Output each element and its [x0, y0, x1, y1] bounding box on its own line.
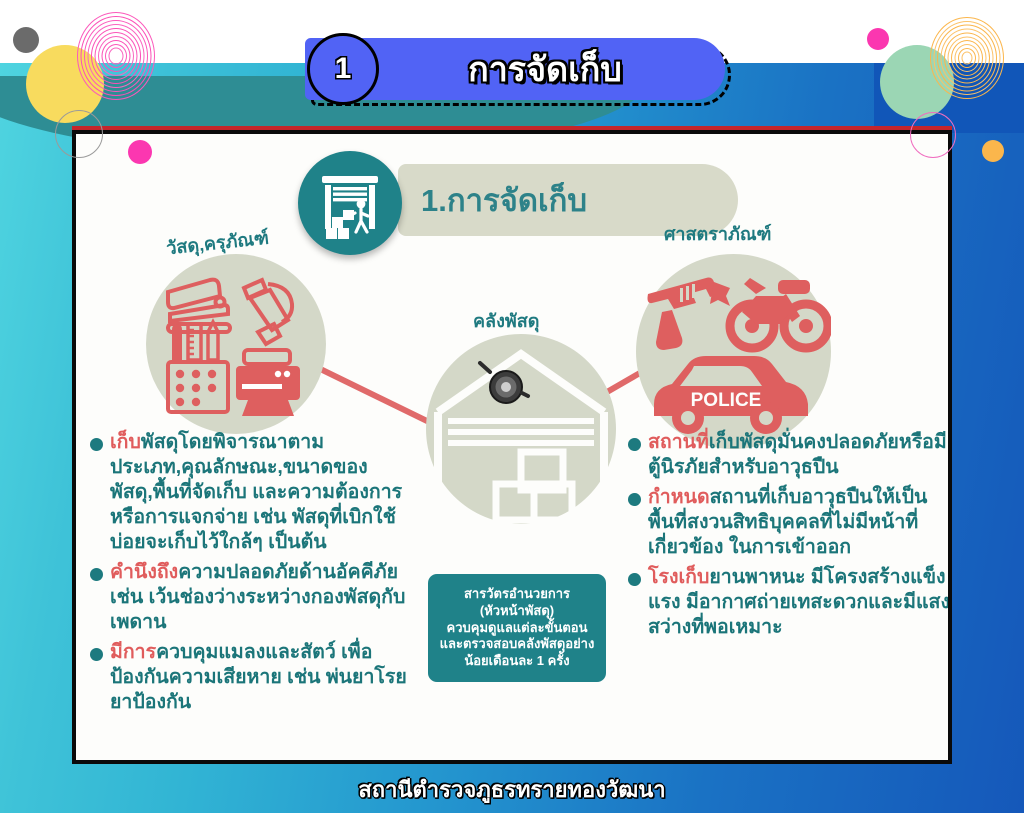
deco-pink-dot-top-right [867, 28, 889, 50]
deco-pink-spiral-top-left [77, 12, 155, 100]
deco-pink-dot-top-left [128, 140, 152, 164]
deco-pink-ring-top-right [910, 112, 956, 158]
bullet-highlight: โรงเก็บ [648, 566, 709, 588]
footer-organization-name: สถานีตำรวจภูธรทรายทองวัฒนา [0, 772, 1024, 807]
deco-orange-spiral-top-right [930, 17, 1004, 99]
binder-clip-icon [244, 280, 292, 344]
bullet-body: กำหนดสถานที่เก็บอาวุธปืนให้เป็นพื้นที่สง… [648, 485, 952, 560]
list-item: สถานที่เก็บพัสดุมั่นคงปลอดภัยหรือมีตู้นิ… [628, 430, 952, 480]
note-line: และตรวจสอบคลังพัสดุอย่าง [440, 636, 595, 653]
motorcycle-icon [730, 278, 828, 348]
warehouse-worker-icon [298, 151, 402, 255]
bullet-body: มีการควบคุมแมลงและสัตว์ เพื่อป้องกันความ… [110, 640, 420, 715]
list-item: กำหนดสถานที่เก็บอาวุธปืนให้เป็นพื้นที่สง… [628, 485, 952, 560]
bullet-highlight: คำนึงถึง [110, 561, 178, 583]
revolver-icon [648, 278, 731, 351]
page-title: การจัดเก็บ [395, 38, 695, 100]
step-number-badge: 1 [307, 33, 379, 105]
bullet-body: โรงเก็บยานพาหนะ มีโครงสร้างแข็งแรง มีอาก… [648, 565, 952, 640]
bullet-dot [90, 438, 103, 451]
printer-icon [236, 350, 300, 416]
list-item: โรงเก็บยานพาหนะ มีโครงสร้างแข็งแรง มีอาก… [628, 565, 952, 640]
deco-orange-dot-top-right [982, 140, 1004, 162]
list-item: คำนึงถึงความปลอดภัยด้านอัคคีภัย เช่น เว้… [90, 560, 420, 635]
note-line: ควบคุมดูแลแต่ละขั้นตอน [447, 620, 588, 637]
bullet-dot [90, 648, 103, 661]
bullet-dot [628, 438, 641, 451]
icon-group-warehouse [426, 334, 616, 524]
list-item: เก็บพัสดุโดยพิจารณาตามประเภท,คุณลักษณะ,ข… [90, 430, 420, 555]
list-item: มีการควบคุมแมลงและสัตว์ เพื่อป้องกันความ… [90, 640, 420, 715]
note-line: (หัวหน้าพัสดุ) [480, 603, 554, 620]
deco-gray-ring-top-left [55, 110, 103, 158]
group-label-warehouse: คลังพัสดุ [473, 306, 539, 335]
right-bullet-list: สถานที่เก็บพัสดุมั่นคงปลอดภัยหรือมีตู้นิ… [628, 430, 952, 645]
bullet-highlight: เก็บ [110, 431, 141, 453]
bullet-highlight: สถานที่ [648, 431, 709, 453]
bullet-highlight: กำหนด [648, 486, 710, 508]
icon-group-weapons: POLICE [636, 254, 831, 449]
note-line: น้อยเดือนละ 1 ครั้ง [464, 653, 569, 670]
bullet-body: คำนึงถึงความปลอดภัยด้านอัคคีภัย เช่น เว้… [110, 560, 420, 635]
bullet-dot [90, 568, 103, 581]
group-label-weapons: ศาสตราภัณฑ์ [664, 219, 772, 248]
step-number-label: 1 [335, 52, 352, 86]
bullet-dot [628, 493, 641, 506]
bullet-highlight: มีการ [110, 641, 156, 663]
note-line: สารวัตรอำนวยการ [464, 586, 570, 603]
icon-group-materials [146, 254, 326, 434]
police-car-icon: POLICE [654, 356, 808, 434]
deco-gray-dot-top-left [13, 27, 39, 53]
bullet-rest: พัสดุโดยพิจารณาตามประเภท,คุณลักษณะ,ขนาดข… [110, 431, 402, 553]
police-car-text: POLICE [691, 390, 762, 411]
pen-cup-ruler-icon [168, 322, 228, 412]
bullet-body: เก็บพัสดุโดยพิจารณาตามประเภท,คุณลักษณะ,ข… [110, 430, 420, 555]
bullet-dot [628, 573, 641, 586]
left-bullet-list: เก็บพัสดุโดยพิจารณาตามประเภท,คุณลักษณะ,ข… [90, 430, 420, 719]
bullet-body: สถานที่เก็บพัสดุมั่นคงปลอดภัยหรือมีตู้นิ… [648, 430, 952, 480]
content-card: 1.การจัดเก็บ วัสดุ,ครุภัณฑ์ คลังพัสดุ ศา… [72, 130, 952, 764]
supervisor-note-box: สารวัตรอำนวยการ (หัวหน้าพัสดุ) ควบคุมดูแ… [428, 574, 606, 682]
